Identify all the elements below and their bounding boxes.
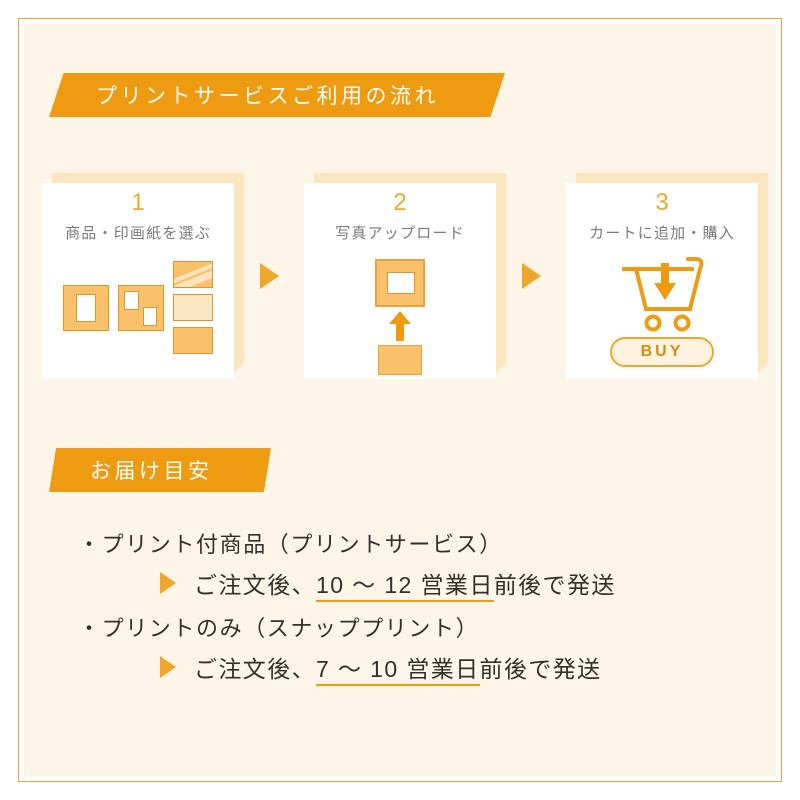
delivery-item-title: ・プリント付商品（プリントサービス） bbox=[78, 528, 738, 562]
right-triangle-arrow-icon bbox=[260, 263, 279, 289]
step-3-number: 3 bbox=[566, 191, 758, 215]
upload-source-file-icon bbox=[378, 345, 422, 375]
step-card-1-surface: 1 商品・印画紙を選ぶ bbox=[42, 183, 234, 379]
delivery-item-print-service: ・プリント付商品（プリントサービス） ご注文後、10 〜 12 営業日前後で発送 bbox=[78, 528, 738, 600]
infographic-page: プリントサービスご利用の流れ 1 商品・印画紙を選ぶ bbox=[0, 0, 800, 800]
delivery-detail-highlight: 10 〜 12 営業日 bbox=[316, 572, 494, 602]
upload-target-inner bbox=[387, 272, 415, 294]
delivery-estimate-list: ・プリント付商品（プリントサービス） ご注文後、10 〜 12 営業日前後で発送… bbox=[78, 528, 738, 696]
delivery-detail-text: ご注文後、7 〜 10 営業日前後で発送 bbox=[194, 650, 602, 684]
delivery-item-title: ・プリントのみ（スナッププリント） bbox=[78, 612, 738, 646]
photo-frame-and-paper-swatches-icon bbox=[42, 255, 234, 379]
step-2-label: 写真アップロード bbox=[304, 225, 496, 243]
delivery-detail-text: ご注文後、10 〜 12 営業日前後で発送 bbox=[194, 566, 616, 600]
step-card-3[interactable]: 3 カートに追加・購入 BUY bbox=[566, 173, 758, 379]
right-triangle-arrow-icon bbox=[160, 656, 176, 678]
upload-arrow-stem bbox=[396, 321, 404, 341]
collage-cell-b bbox=[143, 307, 157, 326]
picture-frame-inner bbox=[76, 294, 96, 322]
step-1-label: 商品・印画紙を選ぶ bbox=[42, 225, 234, 243]
shopping-cart-and-buy-art: BUY bbox=[566, 255, 758, 379]
delivery-detail-prefix: ご注文後、 bbox=[194, 656, 316, 682]
paper-swatch-glossy-icon bbox=[173, 261, 213, 288]
step-card-3-surface: 3 カートに追加・購入 BUY bbox=[566, 183, 758, 379]
delivery-detail-suffix: 前後で発送 bbox=[480, 656, 602, 682]
section-banner-delivery: お届け目安 bbox=[49, 448, 271, 492]
picture-frame-icon bbox=[63, 285, 109, 331]
step-3-label: カートに追加・購入 bbox=[566, 225, 758, 243]
right-triangle-arrow-icon bbox=[522, 263, 541, 289]
photo-upload-icon bbox=[304, 255, 496, 379]
step-card-2[interactable]: 2 写真アップロード bbox=[304, 173, 496, 379]
steps-row: 1 商品・印画紙を選ぶ bbox=[42, 173, 758, 379]
section-banner-delivery-label: お届け目安 bbox=[90, 455, 213, 485]
buy-button-label: BUY bbox=[641, 343, 684, 361]
collage-cell-a bbox=[124, 291, 139, 310]
delivery-detail-highlight: 7 〜 10 営業日 bbox=[316, 656, 480, 686]
buy-button[interactable]: BUY bbox=[610, 337, 714, 367]
delivery-detail-prefix: ご注文後、 bbox=[194, 572, 316, 598]
paper-swatch-solid-icon bbox=[173, 327, 213, 354]
delivery-item-detail: ご注文後、7 〜 10 営業日前後で発送 bbox=[160, 650, 738, 684]
shopping-cart-icon bbox=[618, 255, 710, 333]
collage-layout-icon bbox=[118, 285, 164, 331]
right-triangle-arrow-icon bbox=[160, 572, 176, 594]
section-banner-flow: プリントサービスご利用の流れ bbox=[49, 73, 505, 117]
step-card-2-surface: 2 写真アップロード bbox=[304, 183, 496, 379]
step-card-1[interactable]: 1 商品・印画紙を選ぶ bbox=[42, 173, 234, 379]
paper-swatch-matte-icon bbox=[173, 294, 213, 321]
delivery-detail-suffix: 前後で発送 bbox=[494, 572, 616, 598]
step-1-number: 1 bbox=[42, 191, 234, 215]
upload-target-frame-icon bbox=[375, 259, 425, 307]
delivery-item-snap-print: ・プリントのみ（スナッププリント） ご注文後、7 〜 10 営業日前後で発送 bbox=[78, 612, 738, 684]
delivery-item-detail: ご注文後、10 〜 12 営業日前後で発送 bbox=[160, 566, 738, 600]
section-banner-flow-label: プリントサービスご利用の流れ bbox=[96, 80, 439, 110]
step-2-number: 2 bbox=[304, 191, 496, 215]
